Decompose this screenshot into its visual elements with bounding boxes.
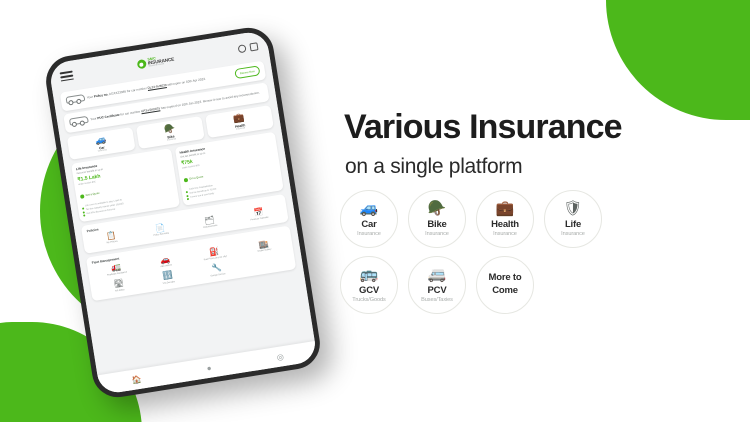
badge-more-to-come[interactable]: More to Come	[476, 256, 534, 314]
badge-bike-subtitle: Insurance	[425, 231, 449, 237]
health-insurance-card[interactable]: Health Insurance Get tax benefit to up t…	[175, 132, 284, 206]
helmet-icon: 🪖	[428, 201, 447, 216]
home-icon[interactable]: 🏠	[131, 374, 142, 384]
menu-spacer	[242, 253, 290, 272]
badge-health-subtitle: Insurance	[493, 231, 517, 237]
badge-car-subtitle: Insurance	[357, 231, 381, 237]
badge-car-title: Car	[361, 219, 376, 230]
badge-gcv-subtitle: Trucks/Goods	[352, 297, 385, 303]
poster-canvas: SMC INSURANCE Secured & Insured	[0, 0, 750, 422]
badge-gcv-title: GCV	[359, 285, 379, 296]
phone-icon[interactable]	[237, 44, 246, 53]
badge-gcv[interactable]: 🚌 GCV Trucks/Goods	[340, 256, 398, 314]
badge-health-title: Health	[491, 219, 519, 230]
product-badges: 🚙 Car Insurance 🪖 Bike Insurance 💼 Healt…	[340, 190, 750, 314]
menu-vin-decoder[interactable]: 🔢 VIN Decoder	[144, 269, 192, 288]
badge-life-subtitle: Insurance	[561, 231, 585, 237]
badge-life-insurance[interactable]: 🛡 Life Insurance	[544, 190, 602, 248]
car-icon: 🚙	[360, 201, 379, 216]
shield-hands-icon: 🛡	[563, 201, 582, 216]
badge-pcv[interactable]: 🚐 PCV Buses/Taxies	[408, 256, 466, 314]
life-insurance-card[interactable]: Life Insurance Get your benefit to up to…	[71, 148, 180, 222]
menu-garage-service[interactable]: 🔧 Garage Service	[193, 261, 241, 280]
badge-pcv-title: PCV	[428, 285, 447, 296]
badge-life-title: Life	[565, 219, 581, 230]
hamburger-menu-icon[interactable]	[59, 69, 74, 84]
page-title: Various Insurance	[344, 108, 622, 147]
bottom-navigation: 🏠 ● ◎	[97, 341, 317, 395]
profile-icon[interactable]: ◎	[276, 352, 284, 362]
life-get-quote-button[interactable]: Get a Quote	[80, 192, 100, 199]
check-icon	[184, 178, 189, 183]
renew-now-button[interactable]: Renew Now	[234, 66, 260, 79]
car-icon	[65, 93, 84, 107]
check-icon	[80, 194, 85, 199]
menu-toll-rates[interactable]: 🛣 Toll Rates	[95, 276, 143, 295]
hero-content: Various Insurance on a single platform 🚙…	[340, 0, 750, 422]
phone-screen: SMC INSURANCE Secured & Insured	[48, 30, 318, 395]
medical-kit-icon: 💼	[496, 201, 515, 216]
badge-pcv-subtitle: Buses/Taxies	[421, 297, 453, 303]
badge-car-insurance[interactable]: 🚙 Car Insurance	[340, 190, 398, 248]
badge-bike-insurance[interactable]: 🪖 Bike Insurance	[408, 190, 466, 248]
health-get-quote-button[interactable]: Get a Quote	[184, 175, 204, 182]
badge-health-insurance[interactable]: 💼 Health Insurance	[476, 190, 534, 248]
document-icon[interactable]	[249, 42, 258, 51]
car-icon	[69, 115, 88, 129]
search-icon[interactable]: ●	[206, 363, 212, 373]
badge-more-title: More to Come	[477, 272, 533, 298]
app-logo: SMC INSURANCE Secured & Insured	[136, 54, 175, 70]
product-badges-row-1: 🚙 Car Insurance 🪖 Bike Insurance 💼 Healt…	[340, 190, 750, 248]
product-badges-row-2: 🚌 GCV Trucks/Goods 🚐 PCV Buses/Taxies Mo…	[340, 256, 750, 314]
page-subtitle: on a single platform	[345, 155, 522, 179]
van-icon: 🚐	[428, 267, 447, 282]
truck-icon: 🚌	[360, 267, 379, 282]
badge-bike-title: Bike	[427, 219, 446, 230]
logo-mark-icon	[136, 59, 146, 69]
